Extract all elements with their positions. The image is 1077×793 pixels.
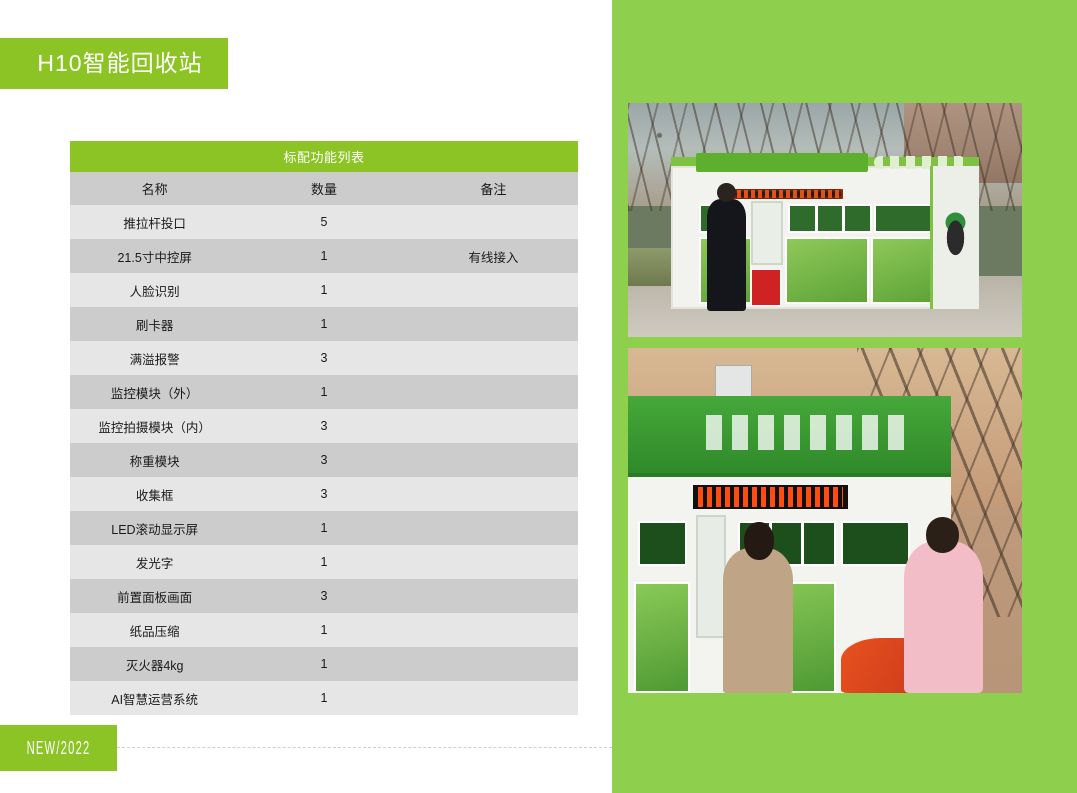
cell-note (409, 477, 578, 511)
cell-note (409, 307, 578, 341)
cell-qty: 1 (239, 647, 408, 681)
cell-note (409, 409, 578, 443)
front-panel-graphic (785, 237, 869, 304)
cell-name: 前置面板画面 (70, 579, 239, 613)
photo-top-scene (628, 103, 1022, 337)
cell-qty: 1 (239, 375, 408, 409)
cell-qty: 5 (239, 205, 408, 239)
table-row: 收集框 3 (70, 477, 578, 511)
cell-note (409, 205, 578, 239)
table-caption-head: 标配功能列表 (70, 141, 578, 172)
table-row: 前置面板画面 3 (70, 579, 578, 613)
kiosk-roof-sign (696, 153, 868, 172)
footer-divider (117, 747, 612, 748)
deposit-bin (841, 521, 910, 567)
cell-note (409, 511, 578, 545)
photo-recycling-station-front: 再生资源智能回收站 - 男子在中控屏前投递，站体前面板标语：垃圾分一分 环境美十… (628, 103, 1022, 337)
standard-feature-table: 标配功能列表 名称 数量 备注 推拉杆投口 5 21.5寸中控屏 1 有线接入 … (70, 141, 578, 715)
cell-name: 刷卡器 (70, 307, 239, 341)
cell-qty: 1 (239, 545, 408, 579)
kiosk-side-wall (930, 166, 979, 309)
table-row: 人脸识别 1 (70, 273, 578, 307)
kiosk-green-fascia (628, 396, 951, 477)
cell-name: 监控拍摄模块（内） (70, 409, 239, 443)
cell-note (409, 579, 578, 613)
table-row: 刷卡器 1 (70, 307, 578, 341)
column-header-qty: 数量 (239, 172, 408, 205)
table-row: 满溢报警 3 (70, 341, 578, 375)
deposit-bin (843, 204, 872, 232)
table-caption: 标配功能列表 (70, 141, 578, 172)
cell-name: 人脸识别 (70, 273, 239, 307)
photo-recycling-station-users: 再生资源智能回收站 - 两位居民在回收站旁整理待投递物品 (628, 348, 1022, 693)
table-caption-row: 标配功能列表 (70, 141, 578, 172)
deposit-bin (788, 204, 817, 232)
column-header-note: 备注 (409, 172, 578, 205)
cell-note (409, 545, 578, 579)
photo-top-alt: 再生资源智能回收站 - 男子在中控屏前投递，站体前面板标语：垃圾分一分 环境美十… (628, 103, 629, 104)
cell-note (409, 681, 578, 715)
cell-qty: 1 (239, 307, 408, 341)
table-column-head: 名称 数量 备注 (70, 172, 578, 205)
front-panel-graphic (871, 237, 933, 304)
cell-note (409, 273, 578, 307)
table-header-row: 名称 数量 备注 (70, 172, 578, 205)
cell-qty: 1 (239, 681, 408, 715)
air-conditioner-unit (715, 365, 752, 398)
footer-year-label: NEW/2022 (27, 738, 91, 759)
footer-year-tag: NEW/2022 (0, 725, 117, 771)
kiosk-sign-lettering (706, 415, 913, 450)
cell-qty: 3 (239, 477, 408, 511)
slide-left-content: H10智能回收站 标配功能列表 名称 数量 备注 推拉杆投口 5 21.5寸中控… (0, 0, 612, 793)
recycling-hands-logo-icon (941, 209, 971, 258)
table-row: 灭火器4kg 1 (70, 647, 578, 681)
table-row: 21.5寸中控屏 1 有线接入 (70, 239, 578, 273)
cell-name: LED滚动显示屏 (70, 511, 239, 545)
table-body: 推拉杆投口 5 21.5寸中控屏 1 有线接入 人脸识别 1 刷卡器 1 满溢报… (70, 205, 578, 715)
table-row: LED滚动显示屏 1 (70, 511, 578, 545)
page-title-banner: H10智能回收站 (0, 38, 228, 89)
cell-name: 监控模块（外） (70, 375, 239, 409)
cell-note (409, 613, 578, 647)
cell-note (409, 443, 578, 477)
cell-qty: 1 (239, 239, 408, 273)
cell-name: 21.5寸中控屏 (70, 239, 239, 273)
cell-note (409, 375, 578, 409)
column-header-name: 名称 (70, 172, 239, 205)
cell-qty: 3 (239, 443, 408, 477)
led-scrolling-display (733, 189, 844, 199)
deposit-bin (802, 521, 835, 567)
person-right (904, 541, 983, 693)
page-title: H10智能回收站 (25, 52, 202, 75)
service-door (696, 515, 726, 638)
cell-name: 满溢报警 (70, 341, 239, 375)
cell-qty: 1 (239, 511, 408, 545)
person-left (723, 548, 794, 693)
table-row: 纸品压缩 1 (70, 613, 578, 647)
table-row: 发光字 1 (70, 545, 578, 579)
table-row: 称重模块 3 (70, 443, 578, 477)
cell-qty: 3 (239, 409, 408, 443)
photo-bottom-alt: 再生资源智能回收站 - 两位居民在回收站旁整理待投递物品 (628, 348, 629, 349)
cell-note: 有线接入 (409, 239, 578, 273)
cell-note (409, 341, 578, 375)
photo-panel: 再生资源智能回收站 - 男子在中控屏前投递，站体前面板标语：垃圾分一分 环境美十… (612, 0, 1077, 793)
table-row: AI智慧运营系统 1 (70, 681, 578, 715)
cell-note (409, 647, 578, 681)
cell-name: 灭火器4kg (70, 647, 239, 681)
cell-qty: 3 (239, 341, 408, 375)
payout-module (751, 269, 781, 305)
photo-bottom-scene (628, 348, 1022, 693)
table-row: 推拉杆投口 5 (70, 205, 578, 239)
cell-qty: 1 (239, 273, 408, 307)
control-screen (751, 201, 783, 265)
cell-name: 称重模块 (70, 443, 239, 477)
front-panel-graphic (634, 582, 690, 693)
deposit-bin (638, 521, 687, 567)
cell-qty: 3 (239, 579, 408, 613)
cell-qty: 1 (239, 613, 408, 647)
table-row: 监控拍摄模块（内） 3 (70, 409, 578, 443)
table-row: 监控模块（外） 1 (70, 375, 578, 409)
cell-name: AI智慧运营系统 (70, 681, 239, 715)
cell-name: 发光字 (70, 545, 239, 579)
led-scrolling-display (693, 485, 848, 509)
cell-name: 推拉杆投口 (70, 205, 239, 239)
deposit-bin (816, 204, 845, 232)
cell-name: 收集框 (70, 477, 239, 511)
person-using-kiosk (707, 199, 746, 311)
cell-name: 纸品压缩 (70, 613, 239, 647)
deposit-bin (874, 204, 933, 232)
